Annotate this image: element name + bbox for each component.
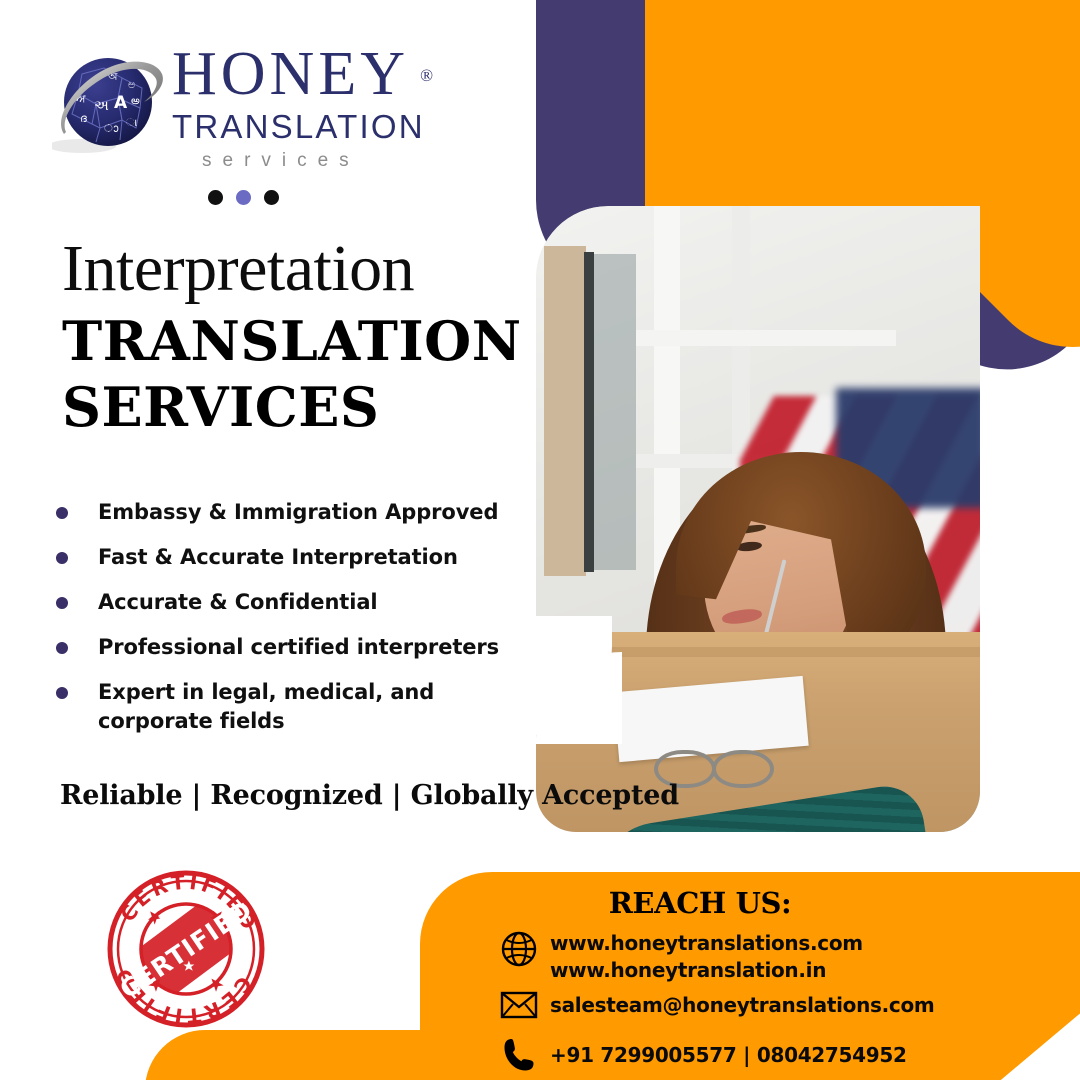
bullet-icon xyxy=(56,687,68,699)
contact-email[interactable]: salesteam@honeytranslations.com xyxy=(550,992,934,1019)
contact-title: REACH US: xyxy=(420,886,980,920)
photo-eyeglasses xyxy=(654,746,784,780)
logo-divider-dots xyxy=(208,190,279,205)
feature-label: Embassy & Immigration Approved xyxy=(98,498,498,527)
headline-main-line-1: TRANSLATION xyxy=(62,308,522,374)
svg-text:ಅ: ಅ xyxy=(128,78,135,91)
svg-text:A: A xyxy=(114,93,128,113)
dot-1 xyxy=(208,190,223,205)
photo-shelf-wood xyxy=(544,246,586,576)
website-1[interactable]: www.honeytranslations.com xyxy=(550,931,863,955)
feature-label: Accurate & Confidential xyxy=(98,588,378,617)
list-item: Professional certified interpreters xyxy=(56,633,526,662)
contact-website-row[interactable]: www.honeytranslations.com www.honeytrans… xyxy=(498,930,863,984)
bullet-icon xyxy=(56,597,68,609)
headline-main-line-2: SERVICES xyxy=(62,374,522,440)
svg-text:ാ: ാ xyxy=(104,122,119,135)
bullet-icon xyxy=(56,642,68,654)
photo-shelf-dark-edge xyxy=(584,252,594,572)
feature-label: Expert in legal, medical, and corporate … xyxy=(98,678,450,736)
headline-main: TRANSLATION SERVICES xyxy=(62,308,522,440)
features-list: Embassy & Immigration Approved Fast & Ac… xyxy=(56,498,526,752)
contact-email-row[interactable]: salesteam@honeytranslations.com xyxy=(498,990,934,1020)
logo-name-primary-text: HONEY xyxy=(172,40,409,108)
bullet-icon xyxy=(56,507,68,519)
poster-canvas: க অ ಅ ਅ અ అ A ദ ാ ા HONEY ® TRANSLATION xyxy=(0,0,1080,1080)
photo-shelf-glass xyxy=(594,254,636,570)
logo-name-secondary: TRANSLATION xyxy=(172,108,425,146)
phone-icon xyxy=(498,1037,540,1073)
contact-phones[interactable]: +91 7299005577 | 08042754952 xyxy=(550,1042,907,1069)
logo-name-tertiary: services xyxy=(202,150,425,172)
globe-icon xyxy=(498,930,540,968)
list-item: Expert in legal, medical, and corporate … xyxy=(56,678,526,736)
tagline: Reliable | Recognized | Globally Accepte… xyxy=(60,780,679,811)
feature-label: Professional certified interpreters xyxy=(98,633,499,662)
envelope-icon xyxy=(498,990,540,1020)
dot-2 xyxy=(236,190,251,205)
contact-websites[interactable]: www.honeytranslations.com www.honeytrans… xyxy=(550,930,863,984)
list-item: Fast & Accurate Interpretation xyxy=(56,543,526,572)
contact-content: REACH US: www.honeytranslations.com www.… xyxy=(420,872,1080,1080)
logo-name-primary: HONEY ® xyxy=(172,42,409,106)
website-2[interactable]: www.honeytranslation.in xyxy=(550,958,826,982)
logo-wordmark: HONEY ® TRANSLATION services xyxy=(172,42,425,172)
decor-orange-block-shape xyxy=(645,0,1080,240)
certified-stamp: CERTIFIED CERTIFIED CERTIFIED xyxy=(105,868,267,1030)
bullet-icon xyxy=(56,552,68,564)
svg-text:అ: అ xyxy=(131,94,140,107)
brand-logo[interactable]: க অ ಅ ਅ અ అ A ദ ാ ા HONEY ® TRANSLATION xyxy=(52,42,412,182)
feature-label: Fast & Accurate Interpretation xyxy=(98,543,458,572)
svg-text:અ: અ xyxy=(94,98,109,114)
globe-languages-icon: க অ ಅ ਅ અ అ A ദ ാ ા xyxy=(52,50,172,170)
list-item: Embassy & Immigration Approved xyxy=(56,498,526,527)
contact-phone-row[interactable]: +91 7299005577 | 08042754952 xyxy=(498,1037,907,1073)
dot-3 xyxy=(264,190,279,205)
svg-text:ദ: ദ xyxy=(80,112,87,125)
list-item: Accurate & Confidential xyxy=(56,588,526,617)
photo-shelf-board-upper xyxy=(636,330,896,346)
svg-text:ા: ા xyxy=(126,116,138,129)
headline-script: Interpretation xyxy=(62,233,414,305)
registered-mark-icon: ® xyxy=(420,44,433,108)
